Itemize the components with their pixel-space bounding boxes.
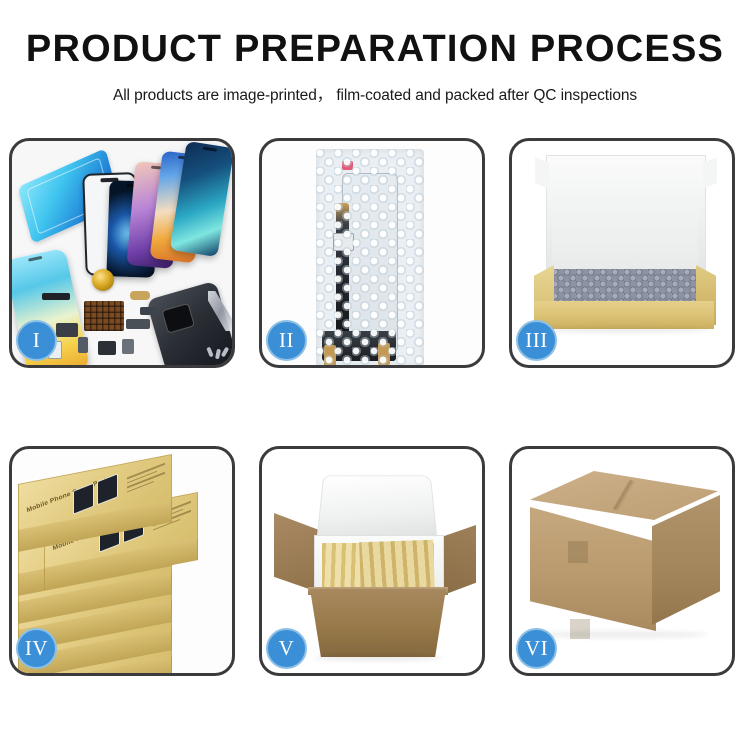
bubble-texture-icon (316, 149, 424, 365)
step-badge-6: VI (516, 628, 557, 669)
process-step-grid: I II III (0, 138, 750, 676)
bubble-wrap-bag-icon (316, 149, 424, 365)
page-subtitle: All products are image-printed， film-coa… (0, 70, 750, 105)
step-badge-3: III (516, 320, 557, 361)
step-badge-1: I (16, 320, 57, 361)
drop-shadow (538, 327, 710, 333)
page-header: PRODUCT PREPARATION PROCESS All products… (0, 0, 750, 105)
step-badge-5: V (266, 628, 307, 669)
screws-icon (208, 347, 230, 365)
box-phone-thumbnails-icon (73, 473, 119, 513)
step-badge-4: IV (16, 628, 57, 669)
box-interior-icon (552, 201, 698, 277)
process-step-panel-2: II (259, 138, 485, 368)
step-badge-2: II (266, 320, 307, 361)
component-part-icon (130, 291, 150, 300)
page-title: PRODUCT PREPARATION PROCESS (0, 30, 750, 70)
component-part-icon (42, 293, 70, 300)
box-front-panel-icon (534, 301, 714, 329)
component-part-icon (140, 307, 156, 315)
carton-handle-tab-icon (568, 541, 588, 563)
carton-left-face-icon (530, 507, 656, 631)
component-part-icon (56, 323, 78, 337)
box-spec-lines-icon (127, 463, 165, 504)
component-part-icon (78, 337, 88, 353)
foam-cooler-lid-icon (316, 475, 437, 540)
drop-shadow (314, 655, 442, 661)
grey-foam-icon (552, 269, 700, 303)
process-step-panel-5: V (259, 446, 485, 676)
process-step-panel-6: VI (509, 446, 735, 676)
component-part-icon (98, 341, 116, 355)
chip-grid-icon (84, 301, 124, 331)
process-step-panel-1: I (9, 138, 235, 368)
component-part-icon (126, 319, 150, 329)
carton-front-panel-icon (310, 589, 446, 657)
drop-shadow (538, 631, 708, 638)
process-step-panel-4: Mobile Phone Spare Parts Mobile Phone Sp… (9, 446, 235, 676)
process-step-panel-3: III (509, 138, 735, 368)
copper-coil-icon (92, 269, 114, 291)
packed-boxes-icon (359, 540, 435, 593)
component-part-icon (122, 339, 134, 354)
